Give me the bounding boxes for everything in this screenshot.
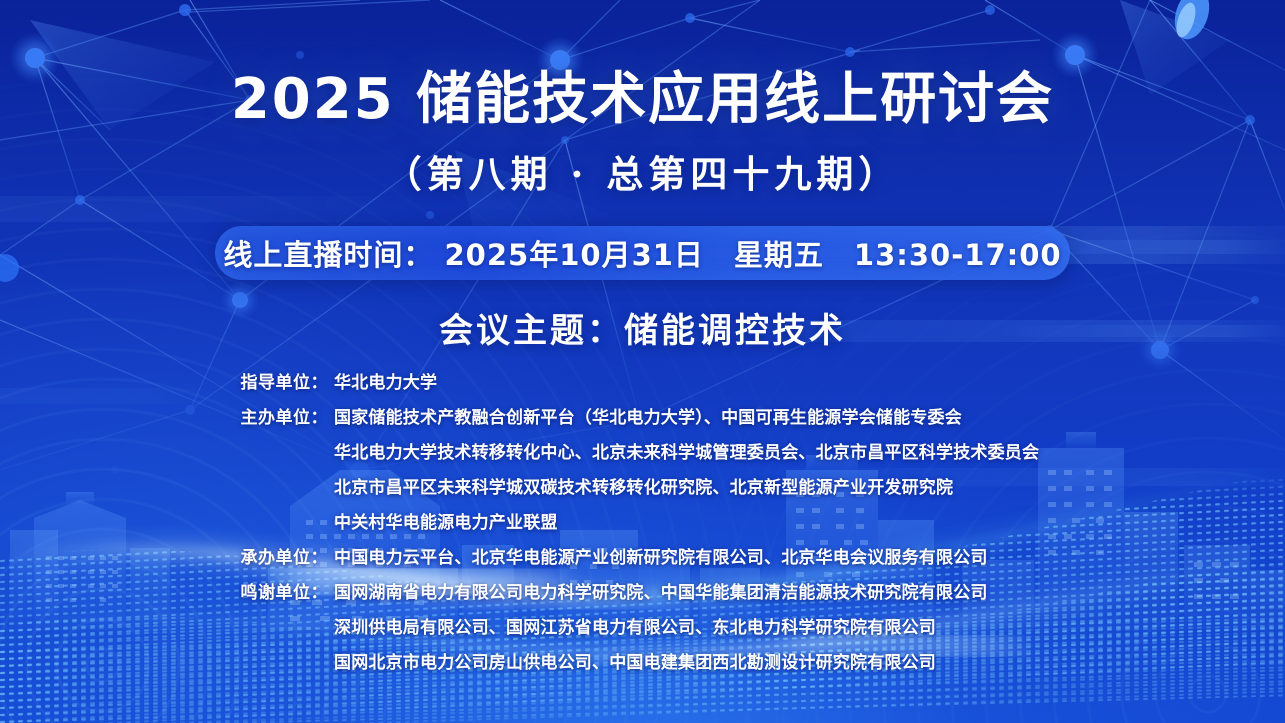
organization-label: 指导单位： [0,368,334,393]
organization-value: 华北电力大学技术转移转化中心、北京未来科学城管理委员会、北京市昌平区科学技术委员… [334,438,1285,463]
organization-row: 华北电力大学技术转移转化中心、北京未来科学城管理委员会、北京市昌平区科学技术委员… [0,438,1285,473]
organization-label: 承办单位： [0,543,334,568]
organization-value: 中关村华电能源电力产业联盟 [334,508,1285,533]
live-time-text: 线上直播时间： 2025年10月31日 星期五 13:30-17:00 [223,232,1061,274]
organization-value: 国家储能技术产教融合创新平台（华北电力大学）、中国可再生能源学会储能专委会 [334,403,1285,428]
organization-label: 鸣谢单位： [0,578,334,603]
live-time-badge: 线上直播时间： 2025年10月31日 星期五 13:30-17:00 [215,226,1070,280]
organization-value: 国网湖南省电力有限公司电力科学研究院、中国华能集团清洁能源技术研究院有限公司 [334,578,1285,603]
organization-row: 承办单位： 中国电力云平台、北京华电能源产业创新研究院有限公司、北京华电会议服务… [0,543,1285,578]
organization-value: 中国电力云平台、北京华电能源产业创新研究院有限公司、北京华电会议服务有限公司 [334,543,1285,568]
conference-theme: 会议主题：储能调控技术 [0,303,1285,352]
organizations-list: 指导单位： 华北电力大学 主办单位： 国家储能技术产教融合创新平台（华北电力大学… [0,368,1285,683]
organization-row: 鸣谢单位： 国网湖南省电力有限公司电力科学研究院、中国华能集团清洁能源技术研究院… [0,578,1285,613]
organization-row: 主办单位： 国家储能技术产教融合创新平台（华北电力大学）、中国可再生能源学会储能… [0,403,1285,438]
organization-row: 国网北京市电力公司房山供电公司、中国电建集团西北勘测设计研究院有限公司 [0,648,1285,683]
organization-row: 指导单位： 华北电力大学 [0,368,1285,403]
organization-label: 主办单位： [0,403,334,428]
organization-value: 国网北京市电力公司房山供电公司、中国电建集团西北勘测设计研究院有限公司 [334,648,1285,673]
organization-row: 深圳供电局有限公司、国网江苏省电力有限公司、东北电力科学研究院有限公司 [0,613,1285,648]
page-title: 2025 储能技术应用线上研讨会 [0,54,1285,135]
organization-row: 北京市昌平区未来科学城双碳技术转移转化研究院、北京新型能源产业开发研究院 [0,473,1285,508]
poster-canvas: 2025 储能技术应用线上研讨会 （第八期 · 总第四十九期） 线上直播时间： … [0,0,1285,723]
organization-value: 华北电力大学 [334,368,1285,393]
subtitle: （第八期 · 总第四十九期） [0,144,1285,198]
organization-value: 北京市昌平区未来科学城双碳技术转移转化研究院、北京新型能源产业开发研究院 [334,473,1285,498]
organization-row: 中关村华电能源电力产业联盟 [0,508,1285,543]
organization-value: 深圳供电局有限公司、国网江苏省电力有限公司、东北电力科学研究院有限公司 [334,613,1285,638]
